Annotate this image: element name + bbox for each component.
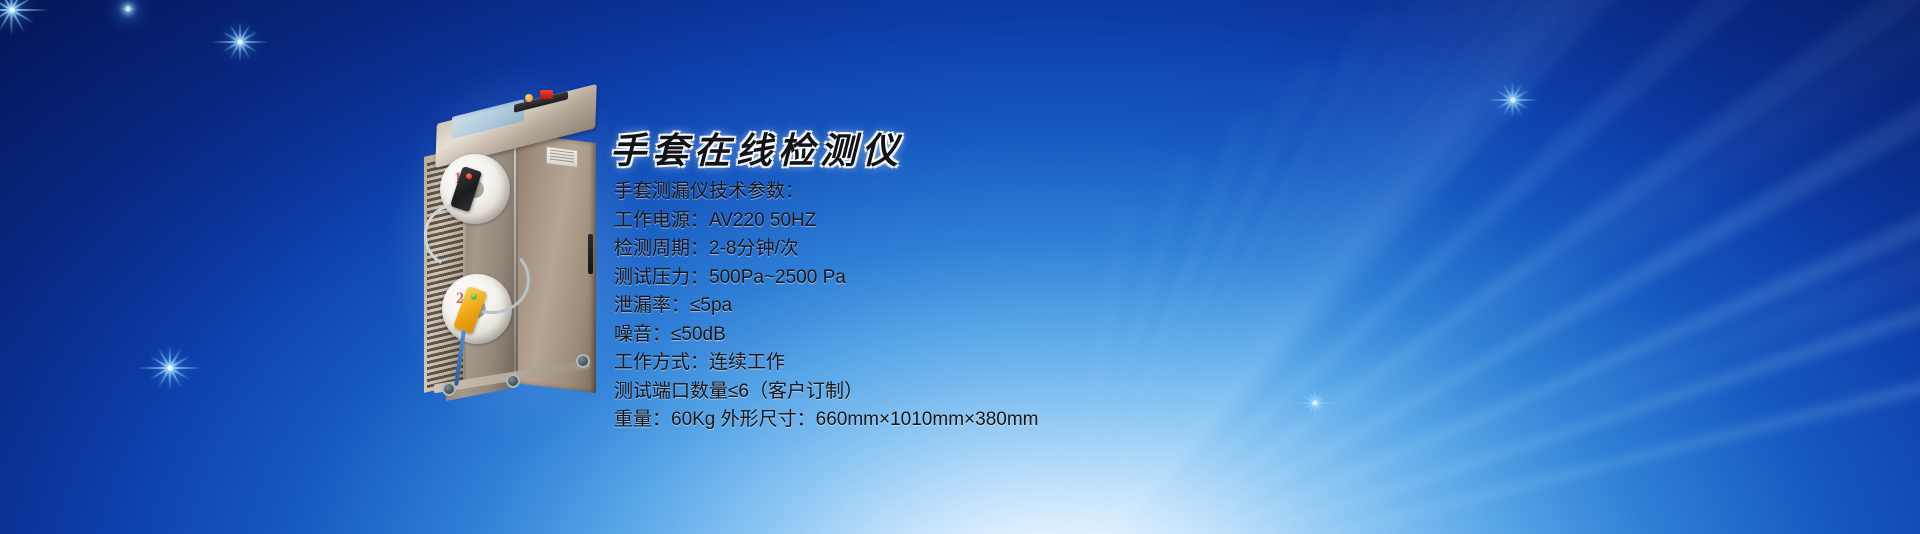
caster-wheel-mid [506,374,520,388]
spec-line: 工作电源：AV220 50HZ [614,207,1374,236]
spec-line: 噪音：≤50dB [614,321,1374,350]
spec-line: 重量：60Kg 外形尺寸：660mm×1010mm×380mm [614,406,1374,435]
cabinet-door-handle [588,234,593,275]
spec-line: 测试端口数量≤6（客户订制） [614,378,1374,407]
spec-list: 手套测漏仪技术参数：工作电源：AV220 50HZ检测周期：2-8分钟/次测试压… [614,178,1374,435]
gun-led-red-icon [465,173,473,181]
spec-line: 泄漏率：≤5pa [614,292,1374,321]
red-stop-button-icon [540,90,553,99]
promo-banner: 1 2 手套在线检测仪 手套测漏仪技术参数：工作电源：AV220 50HZ检测周… [0,0,1920,534]
gun-led-green-icon [470,293,478,301]
spec-line: 工作方式：连续工作 [614,349,1374,378]
caster-wheel-front [442,382,456,396]
caster-wheel-rear [576,354,590,368]
spec-line: 手套测漏仪技术参数： [614,178,1374,207]
banner-headline: 手套在线检测仪 [610,122,904,174]
product-image-glove-leak-tester: 1 2 [418,86,618,406]
orange-indicator-lamp-icon [525,94,533,102]
spec-nameplate [546,146,578,168]
spec-line: 检测周期：2-8分钟/次 [614,235,1374,264]
spec-line: 测试压力：500Pa~2500 Pa [614,264,1374,293]
